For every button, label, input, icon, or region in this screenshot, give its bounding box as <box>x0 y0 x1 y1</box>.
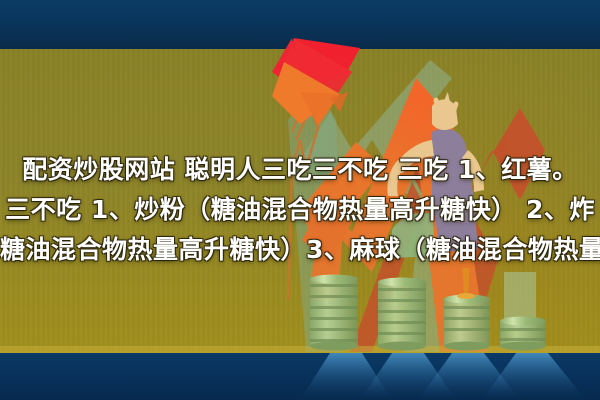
caption-line-3: 糖油混合物热量高升糖快）3、麻球（糖油混合物热量 <box>0 230 600 270</box>
caption-text-block: 配资炒股网站 聪明人三吃三不吃 三吃 1、红薯。 三不吃 1、炒粉（糖油混合物热… <box>0 150 600 270</box>
caption-line-1: 配资炒股网站 聪明人三吃三不吃 三吃 1、红薯。 <box>0 150 600 190</box>
bottom-blue-band <box>0 353 600 400</box>
banner-image: 配资炒股网站 聪明人三吃三不吃 三吃 1、红薯。 三不吃 1、炒粉（糖油混合物热… <box>0 0 600 400</box>
top-blue-band <box>0 0 600 49</box>
caption-line-2: 三不吃 1、炒粉（糖油混合物热量高升糖快） 2、炸 <box>0 190 600 230</box>
